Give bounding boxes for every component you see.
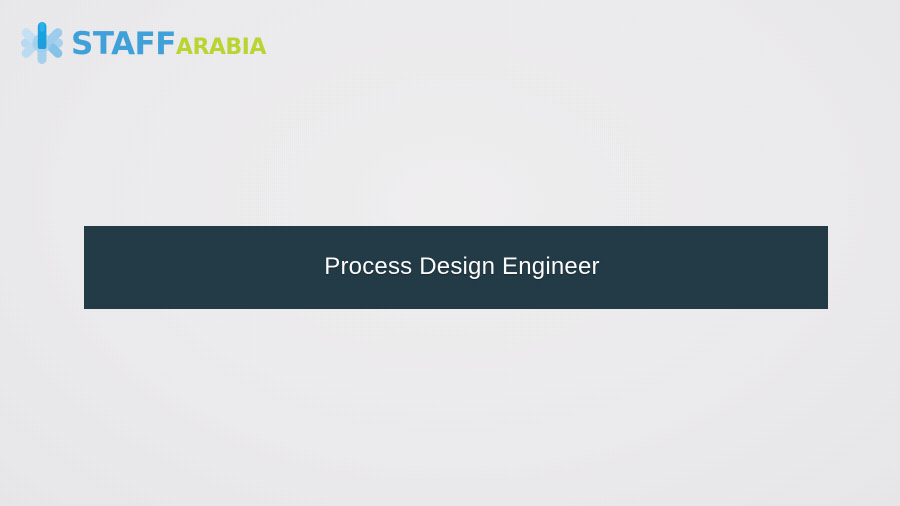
- logo-wordmark-staff: STAFF: [71, 26, 176, 62]
- logo-wordmark-arabia: arabia: [176, 26, 266, 62]
- staffarabia-logo[interactable]: STAFFarabia: [20, 20, 266, 66]
- page-title: Process Design Engineer: [312, 253, 599, 282]
- title-banner: Process Design Engineer: [84, 226, 828, 309]
- slide-canvas: STAFFarabia Process Design Engineer: [0, 0, 900, 506]
- snowflake-flower-icon: [20, 21, 64, 65]
- logo-wordmark: STAFFarabia: [71, 29, 266, 60]
